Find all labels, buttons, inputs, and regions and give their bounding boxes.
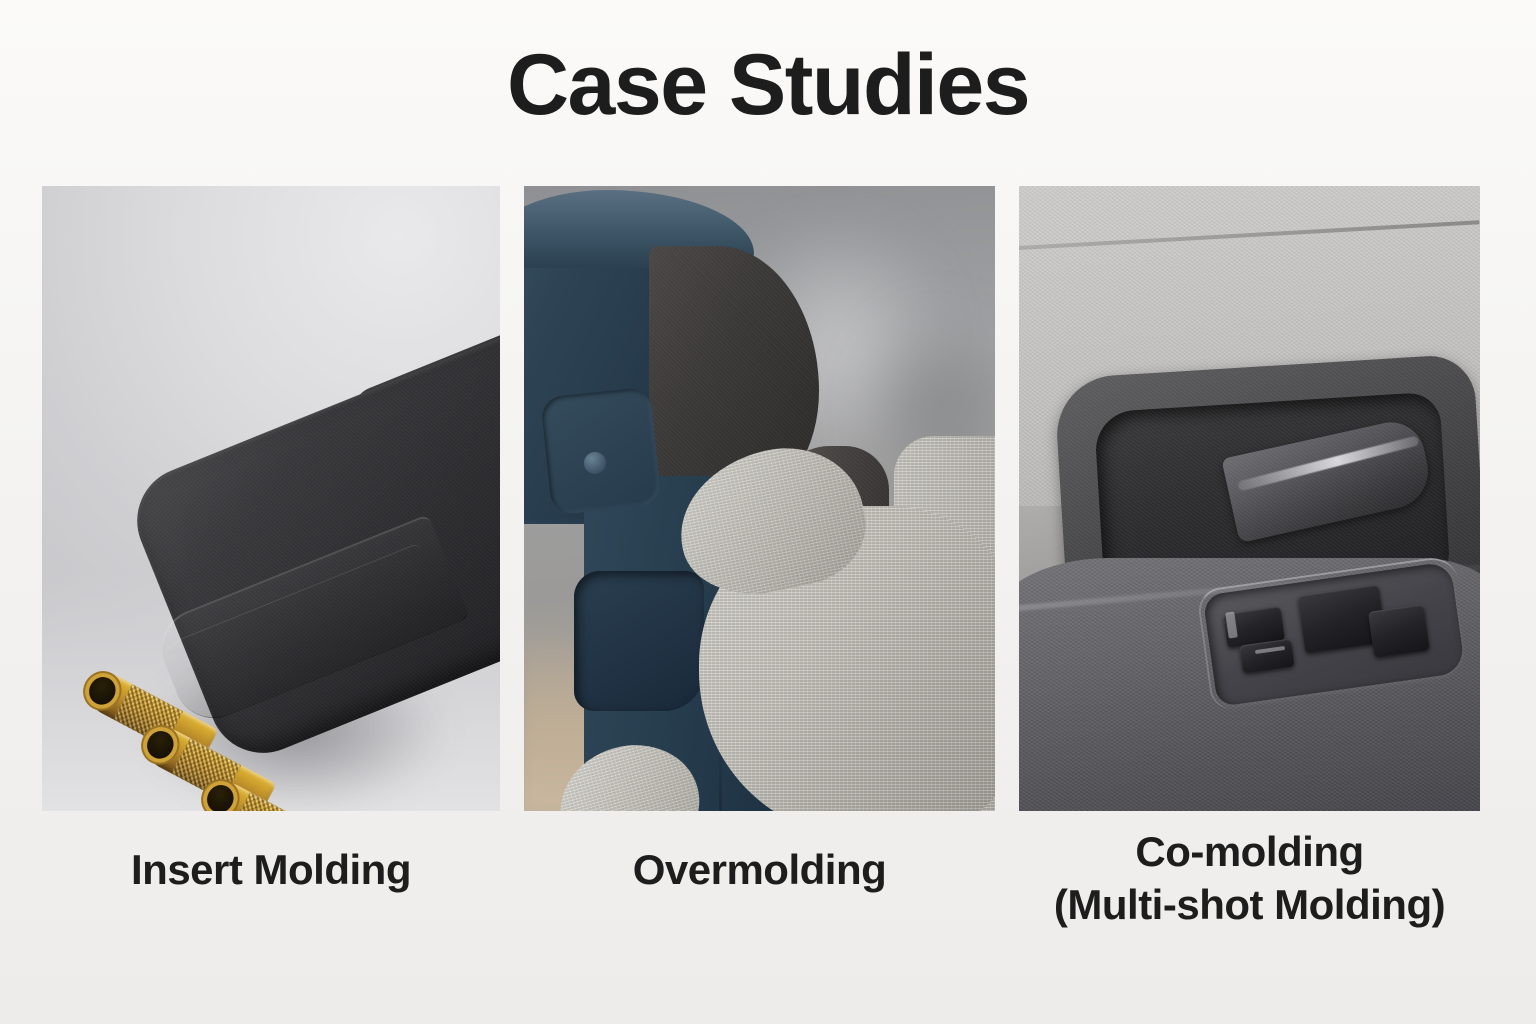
overmolding-photo — [524, 186, 995, 811]
co-molding-photo — [1019, 186, 1480, 811]
trigger-pocket — [574, 571, 704, 711]
case-study-card-overmolding[interactable] — [524, 186, 995, 811]
case-study-card-insert-molding[interactable] — [42, 186, 500, 811]
caption-overmolding: Overmolding — [524, 826, 995, 1006]
window-switch-rocker — [1368, 604, 1430, 657]
caption-line: Co-molding — [1019, 826, 1480, 879]
caption-row: Insert Molding Overmolding Co-molding (M… — [42, 826, 1482, 1006]
caption-insert-molding: Insert Molding — [42, 826, 500, 1006]
caption-line: Insert Molding — [42, 844, 500, 897]
case-study-card-co-molding[interactable] — [1019, 186, 1480, 811]
door-handle-lever — [1221, 416, 1435, 543]
case-study-gallery — [42, 186, 1482, 811]
insert-molding-photo — [42, 186, 500, 811]
recessed-badge-panel — [540, 387, 662, 516]
lever-highlight — [1237, 435, 1420, 491]
caption-line: (Multi-shot Molding) — [1019, 879, 1480, 932]
badge-dot — [584, 452, 606, 474]
caption-co-molding: Co-molding (Multi-shot Molding) — [1019, 826, 1480, 1006]
caption-line: Overmolding — [524, 844, 995, 897]
page-title: Case Studies — [0, 42, 1536, 128]
